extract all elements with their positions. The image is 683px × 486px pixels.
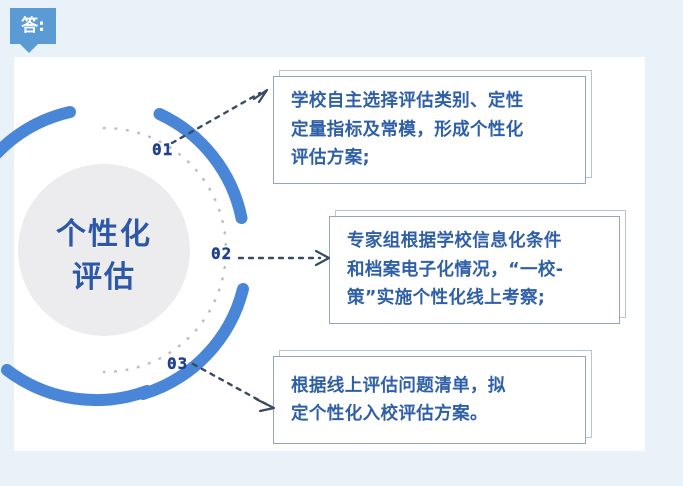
step-number-02: 02: [211, 246, 232, 262]
step-number-01: 01: [152, 142, 173, 158]
arc-segment-04: [7, 370, 147, 400]
step-text-box-01: 学校自主选择评估类别、定性 定量指标及常模，形成个性化 评估方案;: [273, 76, 586, 184]
step-text-line: 专家组根据学校信息化条件: [347, 227, 604, 255]
connector-arrow-03: [190, 360, 282, 414]
step-text-box-03: 根据线上评估问题清单，拟 定个性化入校评估方案。: [273, 356, 586, 444]
step-text-line: 学校自主选择评估类别、定性: [291, 87, 570, 115]
answer-badge-tail: [20, 44, 38, 53]
step-text-line: 策”实施个性化线上考察;: [347, 284, 604, 312]
step-text-line: 定量指标及常模，形成个性化: [291, 116, 570, 144]
center-disc: [18, 164, 190, 336]
step-text-box-02: 专家组根据学校信息化条件 和档案电子化情况，“一校- 策”实施个性化线上考察;: [329, 216, 620, 324]
step-box-body-01: 学校自主选择评估类别、定性 定量指标及常模，形成个性化 评估方案;: [273, 76, 586, 184]
step-text-line: 根据线上评估问题清单，拟: [291, 372, 570, 400]
infographic-canvas: 答: 个性化 评估 01 02 03: [0, 0, 683, 486]
connector-arrow-01: [168, 85, 278, 147]
answer-badge: 答:: [10, 8, 56, 44]
connector-arrow-02: [236, 245, 336, 271]
answer-badge-label: 答:: [10, 8, 56, 44]
step-number-03: 03: [167, 356, 188, 372]
step-box-body-02: 专家组根据学校信息化条件 和档案电子化情况，“一校- 策”实施个性化线上考察;: [329, 216, 620, 324]
step-text-line: 和档案电子化情况，“一校-: [347, 256, 604, 284]
step-text-line: 定个性化入校评估方案。: [291, 400, 570, 428]
step-box-body-03: 根据线上评估问题清单，拟 定个性化入校评估方案。: [273, 356, 586, 444]
step-text-line: 评估方案;: [291, 144, 570, 172]
